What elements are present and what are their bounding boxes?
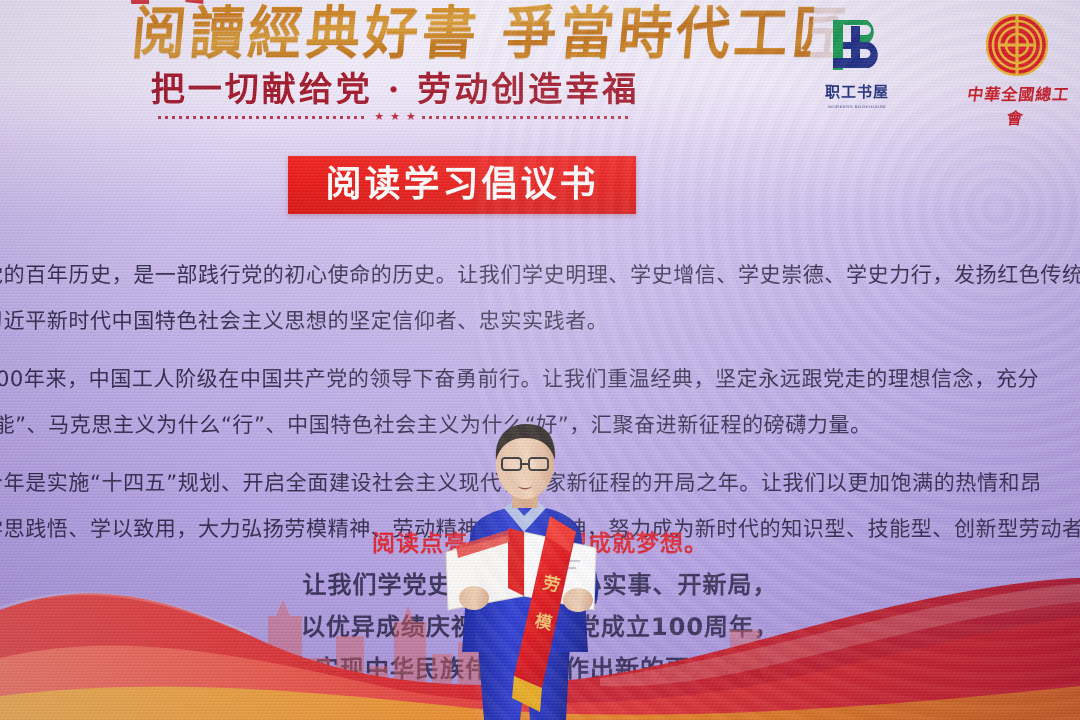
- logo-workers-bookhouse: 职工书屋 WORKERS BOOKHOUSE: [804, 14, 910, 109]
- headline-title-left: 阅讀經典好書: [129, 0, 483, 67]
- initiative-title-label: 阅读学习倡议书: [325, 166, 598, 204]
- divider-dots-left: [158, 116, 368, 119]
- paragraph-1-line-1: 党的百年历史，是一部践行党的初心使命的历史。让我们学史明理、学史增信、学史崇德、…: [0, 252, 1080, 298]
- workers-bookhouse-label-en: WORKERS BOOKHOUSE: [804, 104, 910, 109]
- divider-star-icon-2: ★: [390, 112, 400, 123]
- headline-title: 阅讀經典好書爭當時代工匠: [129, 2, 815, 68]
- acftu-icon: [964, 14, 1070, 76]
- speaker-person: 劳 模: [400, 420, 650, 720]
- speaker-left-hand: [459, 586, 489, 610]
- speaker-right-hand: [563, 588, 593, 612]
- workers-bookhouse-icon: [804, 14, 910, 76]
- logo-group: 职工书屋 WORKERS BOOKHOUSE 中華全國總工會: [804, 14, 1070, 129]
- acftu-label-cn: 中華全國總工會: [961, 81, 1074, 129]
- divider-dots-right: [422, 116, 632, 119]
- paragraph-2-line-1: 100年来，中国工人阶级在中国共产党的领导下奋勇前行。让我们重温经典，坚定永远跟…: [0, 356, 1080, 402]
- divider-star-icon-1: ★: [374, 112, 384, 123]
- headline-title-right: 爭當時代工匠: [499, 0, 853, 67]
- stage-screen-photo: 阅讀經典好書爭當時代工匠 把一切献给党 · 劳动创造幸福 ★ ★ ★ 职工书屋 …: [0, 0, 1080, 720]
- workers-bookhouse-label-cn: 职工书屋: [804, 81, 910, 102]
- divider-star-icon-3: ★: [406, 112, 416, 123]
- paragraph-1-line-2: 习近平新时代中国特色社会主义思想的坚定信仰者、忠实实践者。: [0, 298, 1080, 344]
- initiative-title-banner: 阅读学习倡议书: [288, 156, 636, 214]
- paragraph-1: 党的百年历史，是一部践行党的初心使命的历史。让我们学史明理、学史增信、学史崇德、…: [0, 252, 1080, 344]
- logo-acftu: 中華全國總工會: [964, 14, 1070, 129]
